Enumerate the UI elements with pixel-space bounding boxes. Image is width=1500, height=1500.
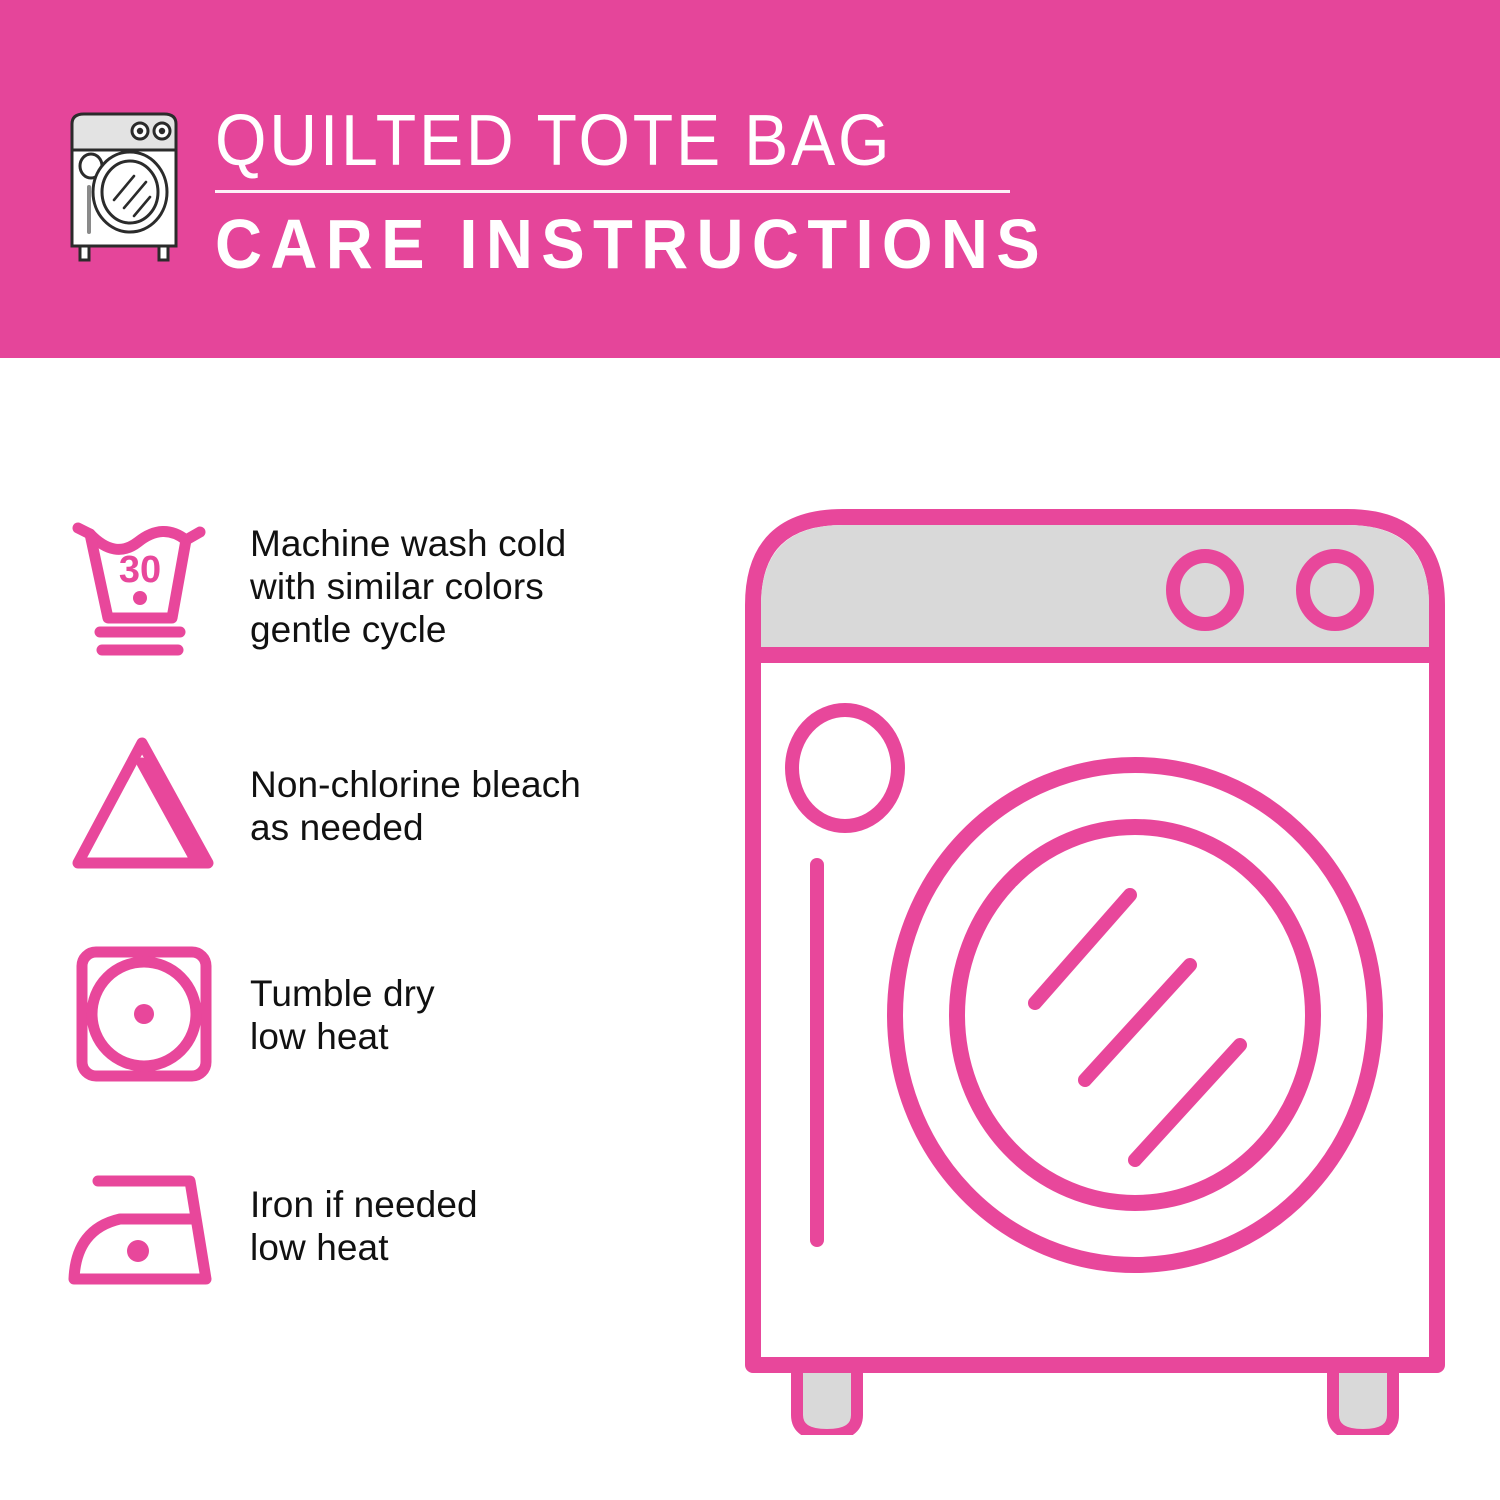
- care-line: low heat: [250, 1015, 720, 1058]
- care-row-machine-wash: 30 Machine wash cold with similar colors…: [60, 500, 720, 715]
- care-line: low heat: [250, 1226, 720, 1269]
- title-divider: [215, 190, 1010, 193]
- care-line: with similar colors: [250, 565, 720, 608]
- care-text-machine-wash: Machine wash cold with similar colors ge…: [250, 500, 720, 651]
- care-row-tumble-dry: Tumble dry low heat: [60, 930, 720, 1145]
- header-band: QUILTED TOTE BAG CARE INSTRUCTIONS: [0, 0, 1500, 358]
- tumble-dry-low-icon: [60, 930, 250, 1090]
- large-washing-machine-illustration: [735, 495, 1455, 1435]
- machine-detergent-port: [792, 710, 898, 826]
- care-line: as needed: [250, 806, 720, 849]
- care-instructions-infographic: QUILTED TOTE BAG CARE INSTRUCTIONS 30: [0, 0, 1500, 1500]
- machine-wash-30-gentle-icon: 30: [60, 500, 250, 660]
- machine-knob-left: [1173, 556, 1237, 624]
- care-line: Non-chlorine bleach: [250, 763, 720, 806]
- care-line: Iron if needed: [250, 1183, 720, 1226]
- care-row-bleach: Non-chlorine bleach as needed: [60, 715, 720, 930]
- care-text-bleach: Non-chlorine bleach as needed: [250, 715, 720, 849]
- care-line: Tumble dry: [250, 972, 720, 1015]
- wash-temperature-label: 30: [119, 549, 161, 591]
- page-subtitle: CARE INSTRUCTIONS: [215, 205, 959, 283]
- care-line: Machine wash cold: [250, 522, 720, 565]
- care-instruction-list: 30 Machine wash cold with similar colors…: [60, 500, 720, 1360]
- care-text-tumble-dry: Tumble dry low heat: [250, 930, 720, 1058]
- care-line: gentle cycle: [250, 608, 720, 651]
- non-chlorine-bleach-triangle-icon: [60, 715, 250, 879]
- page-title: QUILTED TOTE BAG: [215, 100, 951, 182]
- header-text-block: QUILTED TOTE BAG CARE INSTRUCTIONS: [215, 100, 1015, 283]
- care-row-iron: Iron if needed low heat: [60, 1145, 720, 1360]
- washing-machine-icon: [62, 104, 194, 264]
- iron-low-heat-icon: [60, 1145, 250, 1297]
- machine-knob-right: [1303, 556, 1367, 624]
- care-text-iron: Iron if needed low heat: [250, 1145, 720, 1269]
